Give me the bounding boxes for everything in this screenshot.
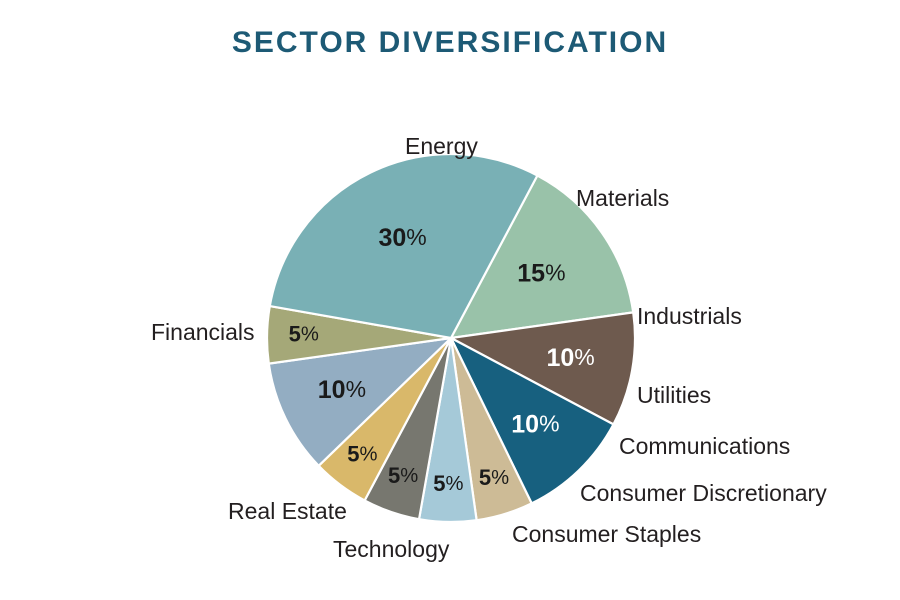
- pie-slice-value-label: 10%: [546, 344, 594, 372]
- pie-category-label: Real Estate: [228, 500, 347, 523]
- pie-slice-value-label: 10%: [318, 376, 366, 404]
- pie-chart-svg: 15%10%10%5%5%5%5%10%5%30%: [0, 0, 900, 600]
- pie-slice-value-label: 30%: [378, 223, 426, 251]
- pie-chart-figure: SECTOR DIVERSIFICATION 15%10%10%5%5%5%5%…: [0, 0, 900, 600]
- pie-category-label: Technology: [333, 538, 449, 561]
- pie-category-label: Consumer Discretionary: [580, 482, 827, 505]
- pie-slice-value-label: 5%: [388, 463, 418, 488]
- pie-category-label: Industrials: [637, 305, 742, 328]
- pie-category-label: Financials: [151, 321, 255, 344]
- pie-slice-value-label: 5%: [433, 471, 463, 496]
- pie-category-label: Utilities: [637, 384, 711, 407]
- pie-slice-value-label: 15%: [517, 259, 565, 287]
- pie-slice-value-label: 10%: [511, 410, 559, 438]
- pie-category-label: Consumer Staples: [512, 523, 701, 546]
- pie-slice-value-label: 5%: [289, 321, 319, 346]
- pie-slice-value-label: 5%: [347, 441, 377, 466]
- pie-category-label: Materials: [576, 187, 669, 210]
- pie-category-label: Communications: [619, 435, 790, 458]
- pie-category-label: Energy: [405, 135, 478, 158]
- pie-slice-value-label: 5%: [479, 465, 509, 490]
